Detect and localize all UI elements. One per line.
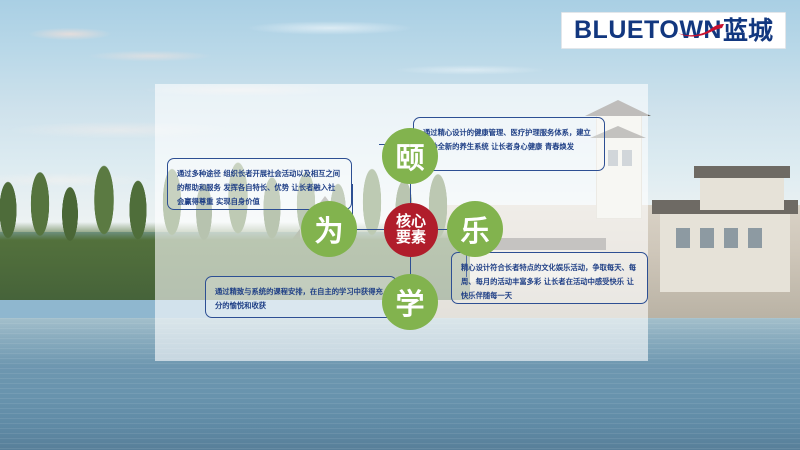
slide-canvas: BLUETOWN 蓝城 通过精心设计的健康管理、医疗护理服务体系，建立一种全新的… bbox=[0, 0, 800, 450]
core-elements-diagram: 通过精心设计的健康管理、医疗护理服务体系，建立一种全新的养生系统 让长者身心健康… bbox=[155, 84, 648, 361]
description-box-yi: 通过精心设计的健康管理、医疗护理服务体系，建立一种全新的养生系统 让长者身心健康… bbox=[413, 117, 605, 171]
description-box-le: 精心设计符合长者特点的文化娱乐活动，争取每天、每周、每月的活动丰富多彩 让长者在… bbox=[451, 252, 648, 304]
center-hub-label-line2: 要素 bbox=[396, 230, 426, 246]
building-wall bbox=[700, 176, 784, 210]
node-circle-xue[interactable]: 学 bbox=[382, 274, 438, 330]
logo-english-text: BLUETOWN bbox=[574, 18, 722, 43]
building-window bbox=[724, 228, 738, 248]
logo-chinese-text: 蓝城 bbox=[723, 18, 773, 43]
center-hub-circle[interactable]: 核心 要素 bbox=[384, 203, 438, 257]
building-window bbox=[700, 228, 714, 248]
description-box-xue: 通过精致与系统的课程安排，在自主的学习中获得充分的愉悦和收获 bbox=[205, 276, 397, 318]
building-wall bbox=[660, 212, 790, 292]
node-circle-wei[interactable]: 为 bbox=[301, 201, 357, 257]
building-window bbox=[676, 228, 690, 248]
brand-logo: BLUETOWN 蓝城 bbox=[561, 12, 786, 49]
building-roof bbox=[694, 166, 790, 178]
node-circle-yi[interactable]: 颐 bbox=[382, 128, 438, 184]
building-window bbox=[748, 228, 762, 248]
node-circle-le[interactable]: 乐 bbox=[447, 201, 503, 257]
